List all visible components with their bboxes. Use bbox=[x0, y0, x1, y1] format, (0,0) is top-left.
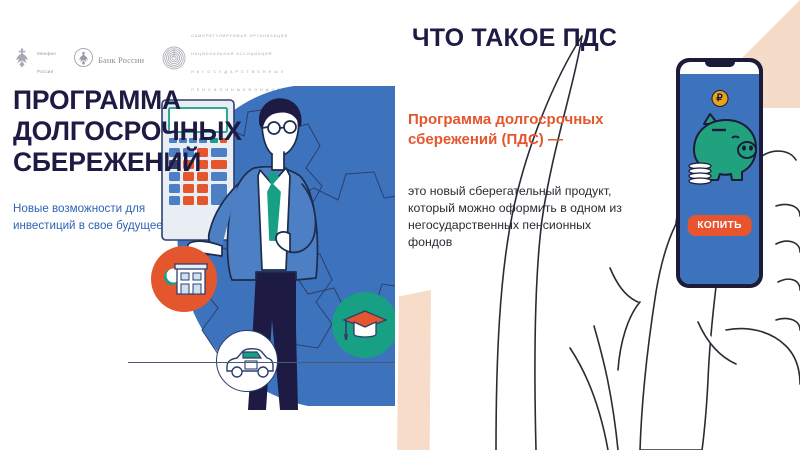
kopit-button[interactable]: КОПИТЬ bbox=[687, 215, 752, 236]
slide-canvas: Минфин России Банк России bbox=[0, 0, 800, 450]
poster-subtitle: Новые возможности для инвестиций в свое … bbox=[13, 200, 203, 234]
ruble-coin-icon: ₽ bbox=[711, 90, 728, 107]
minfin-logo: Минфин России bbox=[12, 42, 56, 78]
phone-notch bbox=[705, 62, 735, 67]
page-title: ЧТО ТАКОЕ ПДС bbox=[412, 24, 617, 53]
house-icon-badge bbox=[151, 246, 217, 312]
bank-rossii-logo-text: Банк России bbox=[98, 54, 144, 66]
double-headed-eagle-icon bbox=[74, 48, 93, 72]
concentric-circles-icon bbox=[162, 46, 186, 75]
bank-rossii-logo: Банк России bbox=[74, 48, 144, 72]
body-paragraph: это новый сберегательный продукт, которы… bbox=[408, 183, 633, 251]
horizontal-divider bbox=[128, 362, 395, 363]
car-icon-badge bbox=[216, 330, 278, 392]
graduation-cap-icon-badge bbox=[332, 292, 395, 358]
poster-title: ПРОГРАММА ДОЛГОСРОЧНЫХ СБЕРЕЖЕНИЙ bbox=[13, 85, 343, 178]
content-panel: ₽ bbox=[395, 0, 800, 450]
piggy-bank-app-screen: ₽ bbox=[680, 74, 759, 284]
house-icon bbox=[151, 246, 217, 312]
lead-paragraph: Программа долгосрочных сбережений (ПДС) … bbox=[408, 110, 663, 150]
smartphone-mockup: ₽ bbox=[676, 58, 763, 288]
double-headed-eagle-icon bbox=[12, 47, 32, 74]
graduation-cap-icon bbox=[332, 292, 395, 358]
coin-stack-icon bbox=[687, 162, 713, 188]
poster-panel: Минфин России Банк России bbox=[0, 0, 395, 450]
minfin-logo-text: Минфин России bbox=[37, 42, 56, 78]
phone-screen: ₽ bbox=[680, 62, 759, 284]
